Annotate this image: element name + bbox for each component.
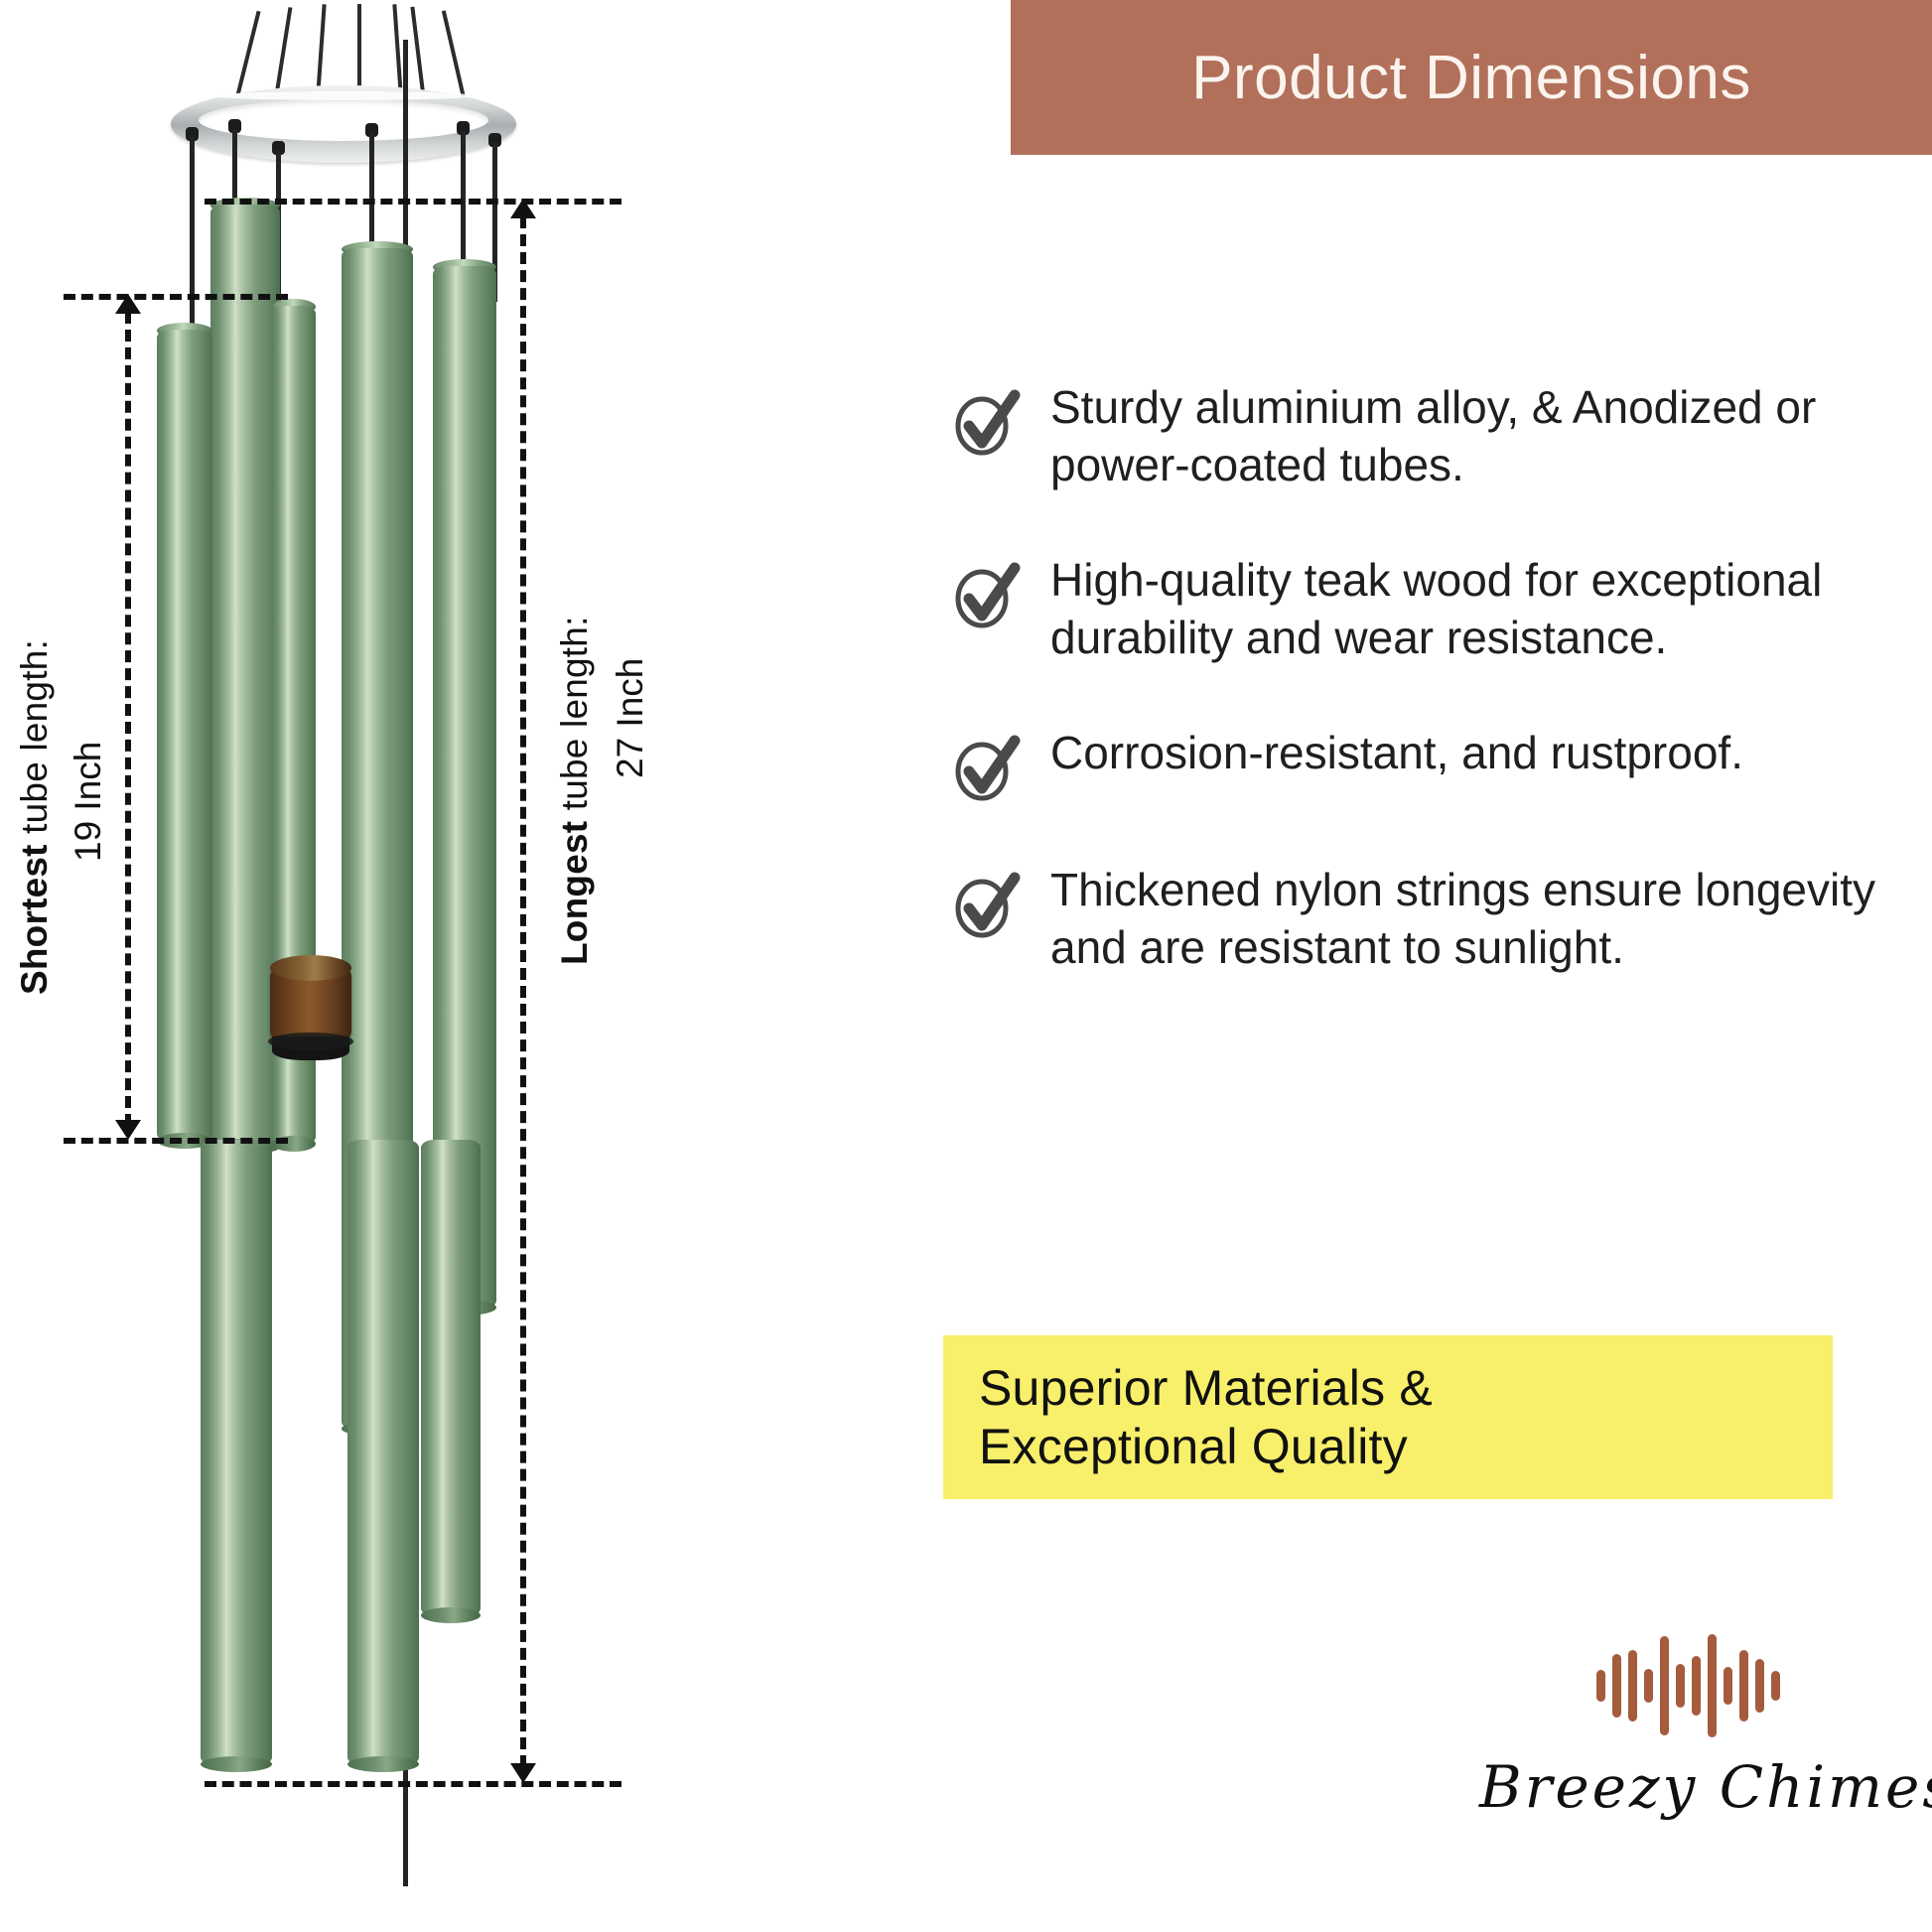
dimension-measure-longest <box>520 216 526 1767</box>
dimension-arrow-up-shortest <box>115 294 141 314</box>
dimension-line-bottom-longest <box>205 1781 621 1787</box>
check-circle-icon <box>949 868 1023 941</box>
feature-text: Thickened nylon strings ensure longevity… <box>1050 862 1914 977</box>
wave-bar <box>1739 1650 1748 1722</box>
dimension-measure-shortest <box>125 312 131 1126</box>
nylon-string <box>369 133 374 252</box>
feature-text: High-quality teak wood for exceptional d… <box>1050 552 1914 667</box>
nylon-string <box>232 129 237 208</box>
wave-bar <box>1708 1634 1717 1737</box>
page-title: Product Dimensions <box>1191 43 1751 113</box>
shortest-tube-length-value: 19 Inch <box>68 742 109 862</box>
ring-inner <box>199 99 488 141</box>
header-banner: Product Dimensions <box>1011 0 1932 155</box>
list-item: High-quality teak wood for exceptional d… <box>949 552 1932 667</box>
wave-bar <box>1724 1667 1732 1705</box>
list-item: Thickened nylon strings ensure longevity… <box>949 862 1932 977</box>
longest-tube-length-value: 27 Inch <box>610 658 651 778</box>
wave-bar <box>1644 1669 1653 1703</box>
brand-name: Breezy Chimes <box>1479 1753 1896 1821</box>
brand-logo: Breezy Chimes <box>1479 1633 1896 1891</box>
nylon-string <box>190 137 195 345</box>
feature-text: Corrosion-resistant, and rustproof. <box>1050 725 1743 782</box>
dimension-arrow-down-shortest <box>115 1120 141 1140</box>
sound-wave-icon <box>1479 1633 1896 1737</box>
chime-tube <box>421 1140 481 1616</box>
dimension-arrow-down-longest <box>510 1763 536 1783</box>
highlight-line-2: Exceptional Quality <box>979 1418 1833 1476</box>
tube-body <box>347 1140 419 1765</box>
highlight-line-1: Superior Materials & <box>979 1359 1833 1418</box>
tube-body <box>421 1140 481 1616</box>
feature-list: Sturdy aluminium alloy, & Anodized or po… <box>949 379 1932 1035</box>
tube-cap-bottom <box>421 1607 481 1623</box>
product-image-panel: Shortest tube length: 19 Inch Longest tu… <box>0 0 755 1932</box>
tube-body <box>157 330 212 1142</box>
longest-label-rest: tube length: <box>554 616 595 820</box>
wave-bar <box>1596 1670 1605 1702</box>
check-circle-icon <box>949 558 1023 631</box>
tube-cap-bottom <box>201 1756 272 1772</box>
shortest-label-rest: tube length: <box>14 639 55 844</box>
ring-highlight <box>210 91 477 100</box>
highlight-callout: Superior Materials & Exceptional Quality <box>943 1335 1833 1499</box>
longest-label-bold: Longest <box>554 821 595 965</box>
infographic-root: Shortest tube length: 19 Inch Longest tu… <box>0 0 1932 1932</box>
wave-bar <box>1660 1636 1669 1735</box>
wave-bar <box>1692 1656 1701 1716</box>
dimension-line-top-shortest <box>64 294 288 300</box>
clapper-top-face <box>270 955 351 981</box>
shortest-tube-length-label: Shortest tube length: <box>14 639 56 995</box>
shortest-label-bold: Shortest <box>14 844 55 995</box>
wave-bar <box>1628 1650 1637 1722</box>
check-circle-icon <box>949 731 1023 804</box>
wave-bar <box>1612 1654 1621 1718</box>
wave-bar <box>1676 1664 1685 1708</box>
dimension-line-top-longest <box>205 199 621 205</box>
feature-text: Sturdy aluminium alloy, & Anodized or po… <box>1050 379 1914 494</box>
clapper-rim <box>268 1033 353 1050</box>
dimension-arrow-up-longest <box>510 199 536 218</box>
chime-tube <box>157 330 212 1142</box>
check-circle-icon <box>949 385 1023 459</box>
chime-tube <box>347 1140 419 1765</box>
tube-body <box>201 1140 272 1765</box>
wave-bar <box>1771 1671 1780 1701</box>
list-item: Corrosion-resistant, and rustproof. <box>949 725 1932 804</box>
wave-bar <box>1755 1659 1764 1713</box>
list-item: Sturdy aluminium alloy, & Anodized or po… <box>949 379 1932 494</box>
chime-tube <box>201 1140 272 1765</box>
tube-cap-bottom <box>347 1756 419 1772</box>
longest-tube-length-label: Longest tube length: <box>554 616 596 965</box>
dimension-line-bottom-shortest <box>64 1138 288 1144</box>
